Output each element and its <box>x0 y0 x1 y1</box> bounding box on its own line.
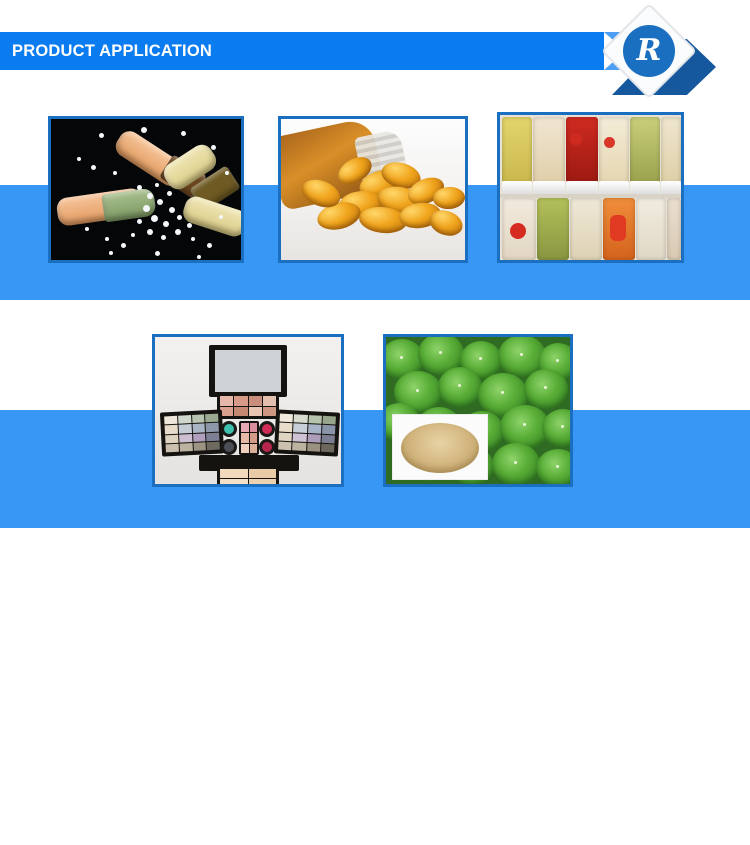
card-caption: Personal care products <box>152 826 344 845</box>
card-image-frame <box>152 334 344 487</box>
pennywort-leaves-photo <box>386 337 570 484</box>
capsules-and-granules-photo <box>51 119 241 260</box>
page-title: PRODUCT APPLICATION <box>12 32 212 70</box>
powder-inset-photo <box>392 414 488 480</box>
card-image-frame <box>278 116 468 263</box>
company-logo: R <box>601 3 697 99</box>
card-image-frame <box>383 334 573 487</box>
softgel-capsules-photo <box>281 119 465 260</box>
preserved-food-jars-photo <box>500 115 681 260</box>
card-image-frame <box>48 116 244 263</box>
logo-monogram: R <box>623 25 675 77</box>
powder-dish <box>401 423 479 473</box>
background-band-bottom <box>0 410 750 528</box>
card-image-frame <box>497 112 684 263</box>
card-caption: Natural plant extract <box>383 826 573 845</box>
makeup-palette-photo <box>155 337 341 484</box>
